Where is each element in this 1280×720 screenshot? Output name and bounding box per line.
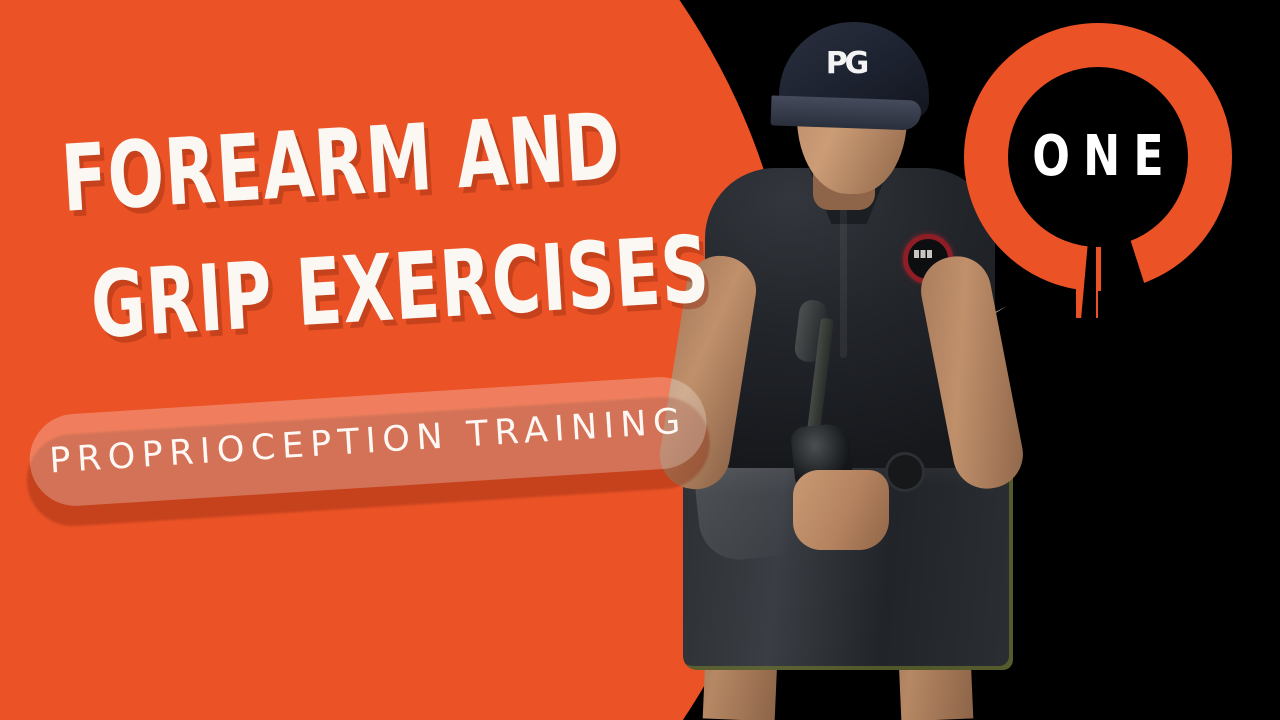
title-block: FOREARM AND GRIP EXERCISES	[58, 77, 722, 371]
cap-logo-text: PG	[823, 42, 869, 86]
one-logo-text: ONE	[979, 22, 1217, 292]
one-logo: ONE	[963, 22, 1233, 342]
cap-brim	[771, 95, 922, 130]
shirt-placket	[840, 208, 847, 358]
hands-grip	[793, 470, 889, 550]
thumbnail-canvas: PG FOREARM AND GRIP EXERCISES PROPRIOCEP…	[0, 0, 1280, 720]
